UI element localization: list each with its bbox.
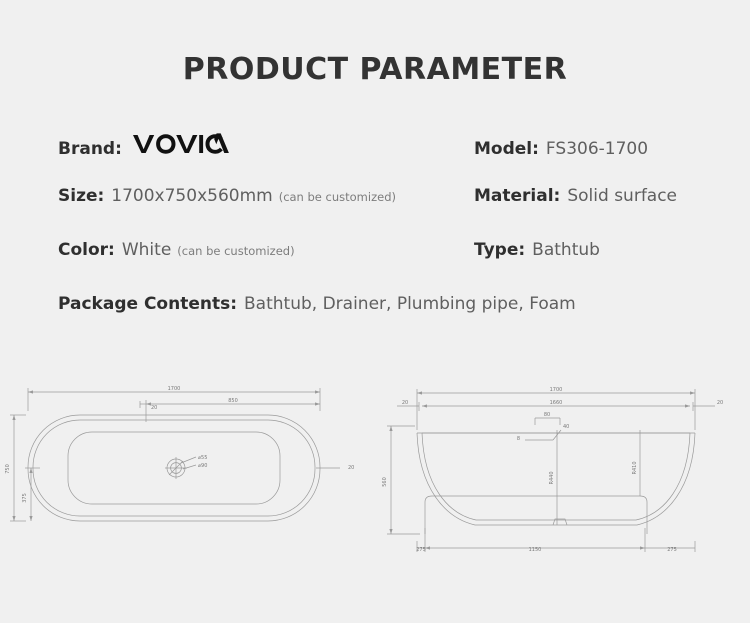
dim-label-drain-span: 80 [544, 412, 550, 418]
page-title: PRODUCT PARAMETER [0, 0, 750, 88]
tub-base-outline [425, 496, 647, 534]
dim-label-wall-thickness-right: 20 [348, 465, 354, 471]
dim-label-radius-right: R410 [632, 461, 638, 474]
spec-item-type: Type: Bathtub [474, 240, 692, 260]
spec-item-package: Package Contents: Bathtub, Drainer, Plum… [58, 294, 692, 314]
spec-note-size: (can be customized) [279, 190, 396, 204]
spec-value-size: 1700x750x560mm [111, 186, 272, 206]
dim-label-drain-small: 40 [563, 424, 569, 430]
spec-label-type: Type: [474, 240, 525, 260]
spec-label-model: Model: [474, 139, 539, 159]
dim-label-half-width: 375 [22, 493, 28, 503]
dim-label-wall-left: 20 [402, 400, 408, 406]
spec-label-color: Color: [58, 240, 115, 260]
spec-item-material: Material: Solid surface [474, 186, 692, 206]
product-parameter-page: PRODUCT PARAMETER Brand: [0, 0, 750, 623]
spec-item-size: Size: 1700x750x560mm (can be customized) [58, 186, 474, 206]
dim-label-side-inner-length: 1660 [550, 400, 563, 406]
spec-note-color: (can be customized) [177, 244, 294, 258]
spec-row-color-type: Color: White (can be customized) Type: B… [58, 240, 692, 294]
dim-label-radius-center: R440 [549, 471, 555, 484]
spec-label-package: Package Contents: [58, 294, 237, 314]
spec-label-size: Size: [58, 186, 104, 206]
dim-label-drain-inner: ⌀55 [198, 455, 207, 461]
dim-label-overall-length: 1700 [168, 386, 181, 392]
dim-label-base-center: 1150 [529, 547, 542, 553]
spec-item-brand: Brand: [58, 132, 474, 159]
spec-item-model: Model: FS306-1700 [474, 139, 692, 159]
drawing-pane-top-view: 1700 850 20 20 750 375 ⌀55 ⌀90 [0, 378, 375, 563]
dim-label-side-overall-length: 1700 [550, 387, 563, 393]
tub-body-inner [422, 433, 690, 520]
technical-drawings: 1700 850 20 20 750 375 ⌀55 ⌀90 [0, 378, 750, 563]
spec-row-brand-model: Brand: [58, 132, 692, 186]
spec-label-brand: Brand: [58, 139, 122, 159]
bathtub-side-view: 1700 1660 20 20 80 40 8 560 R440 R410 27… [375, 378, 750, 563]
spec-value-type: Bathtub [532, 240, 600, 260]
brand-logo [133, 132, 229, 154]
dim-label-base-left: 275 [416, 547, 426, 553]
spec-row-package: Package Contents: Bathtub, Drainer, Plum… [58, 294, 692, 348]
dim-label-overall-height: 560 [382, 477, 388, 487]
dim-label-overall-width: 750 [5, 464, 11, 474]
spec-label-material: Material: [474, 186, 560, 206]
dim-label-base-right: 275 [667, 547, 677, 553]
spec-value-material: Solid surface [567, 186, 677, 206]
tub-body-outer [417, 433, 695, 525]
dim-label-drain-outer: ⌀90 [198, 463, 207, 469]
dim-label-inner-offset: 850 [228, 398, 238, 404]
dim-label-wall-thickness-top: 20 [151, 405, 157, 411]
spec-value-color: White [122, 240, 171, 260]
spec-value-model: FS306-1700 [546, 139, 648, 159]
brand-wordmark [133, 132, 229, 154]
spec-list: Brand: [0, 132, 750, 348]
dim-label-drain-tiny: 8 [517, 436, 520, 442]
bathtub-top-view: 1700 850 20 20 750 375 ⌀55 ⌀90 [0, 378, 375, 563]
drain-leader-1 [181, 457, 196, 463]
spec-row-size-material: Size: 1700x750x560mm (can be customized)… [58, 186, 692, 240]
drain-symbol [165, 457, 196, 479]
brand-wordmark-svg [133, 132, 229, 154]
drawing-pane-side-view: 1700 1660 20 20 80 40 8 560 R440 R410 27… [375, 378, 750, 563]
dim-label-wall-right: 20 [717, 400, 723, 406]
spec-item-color: Color: White (can be customized) [58, 240, 474, 260]
spec-value-package: Bathtub, Drainer, Plumbing pipe, Foam [244, 294, 576, 314]
